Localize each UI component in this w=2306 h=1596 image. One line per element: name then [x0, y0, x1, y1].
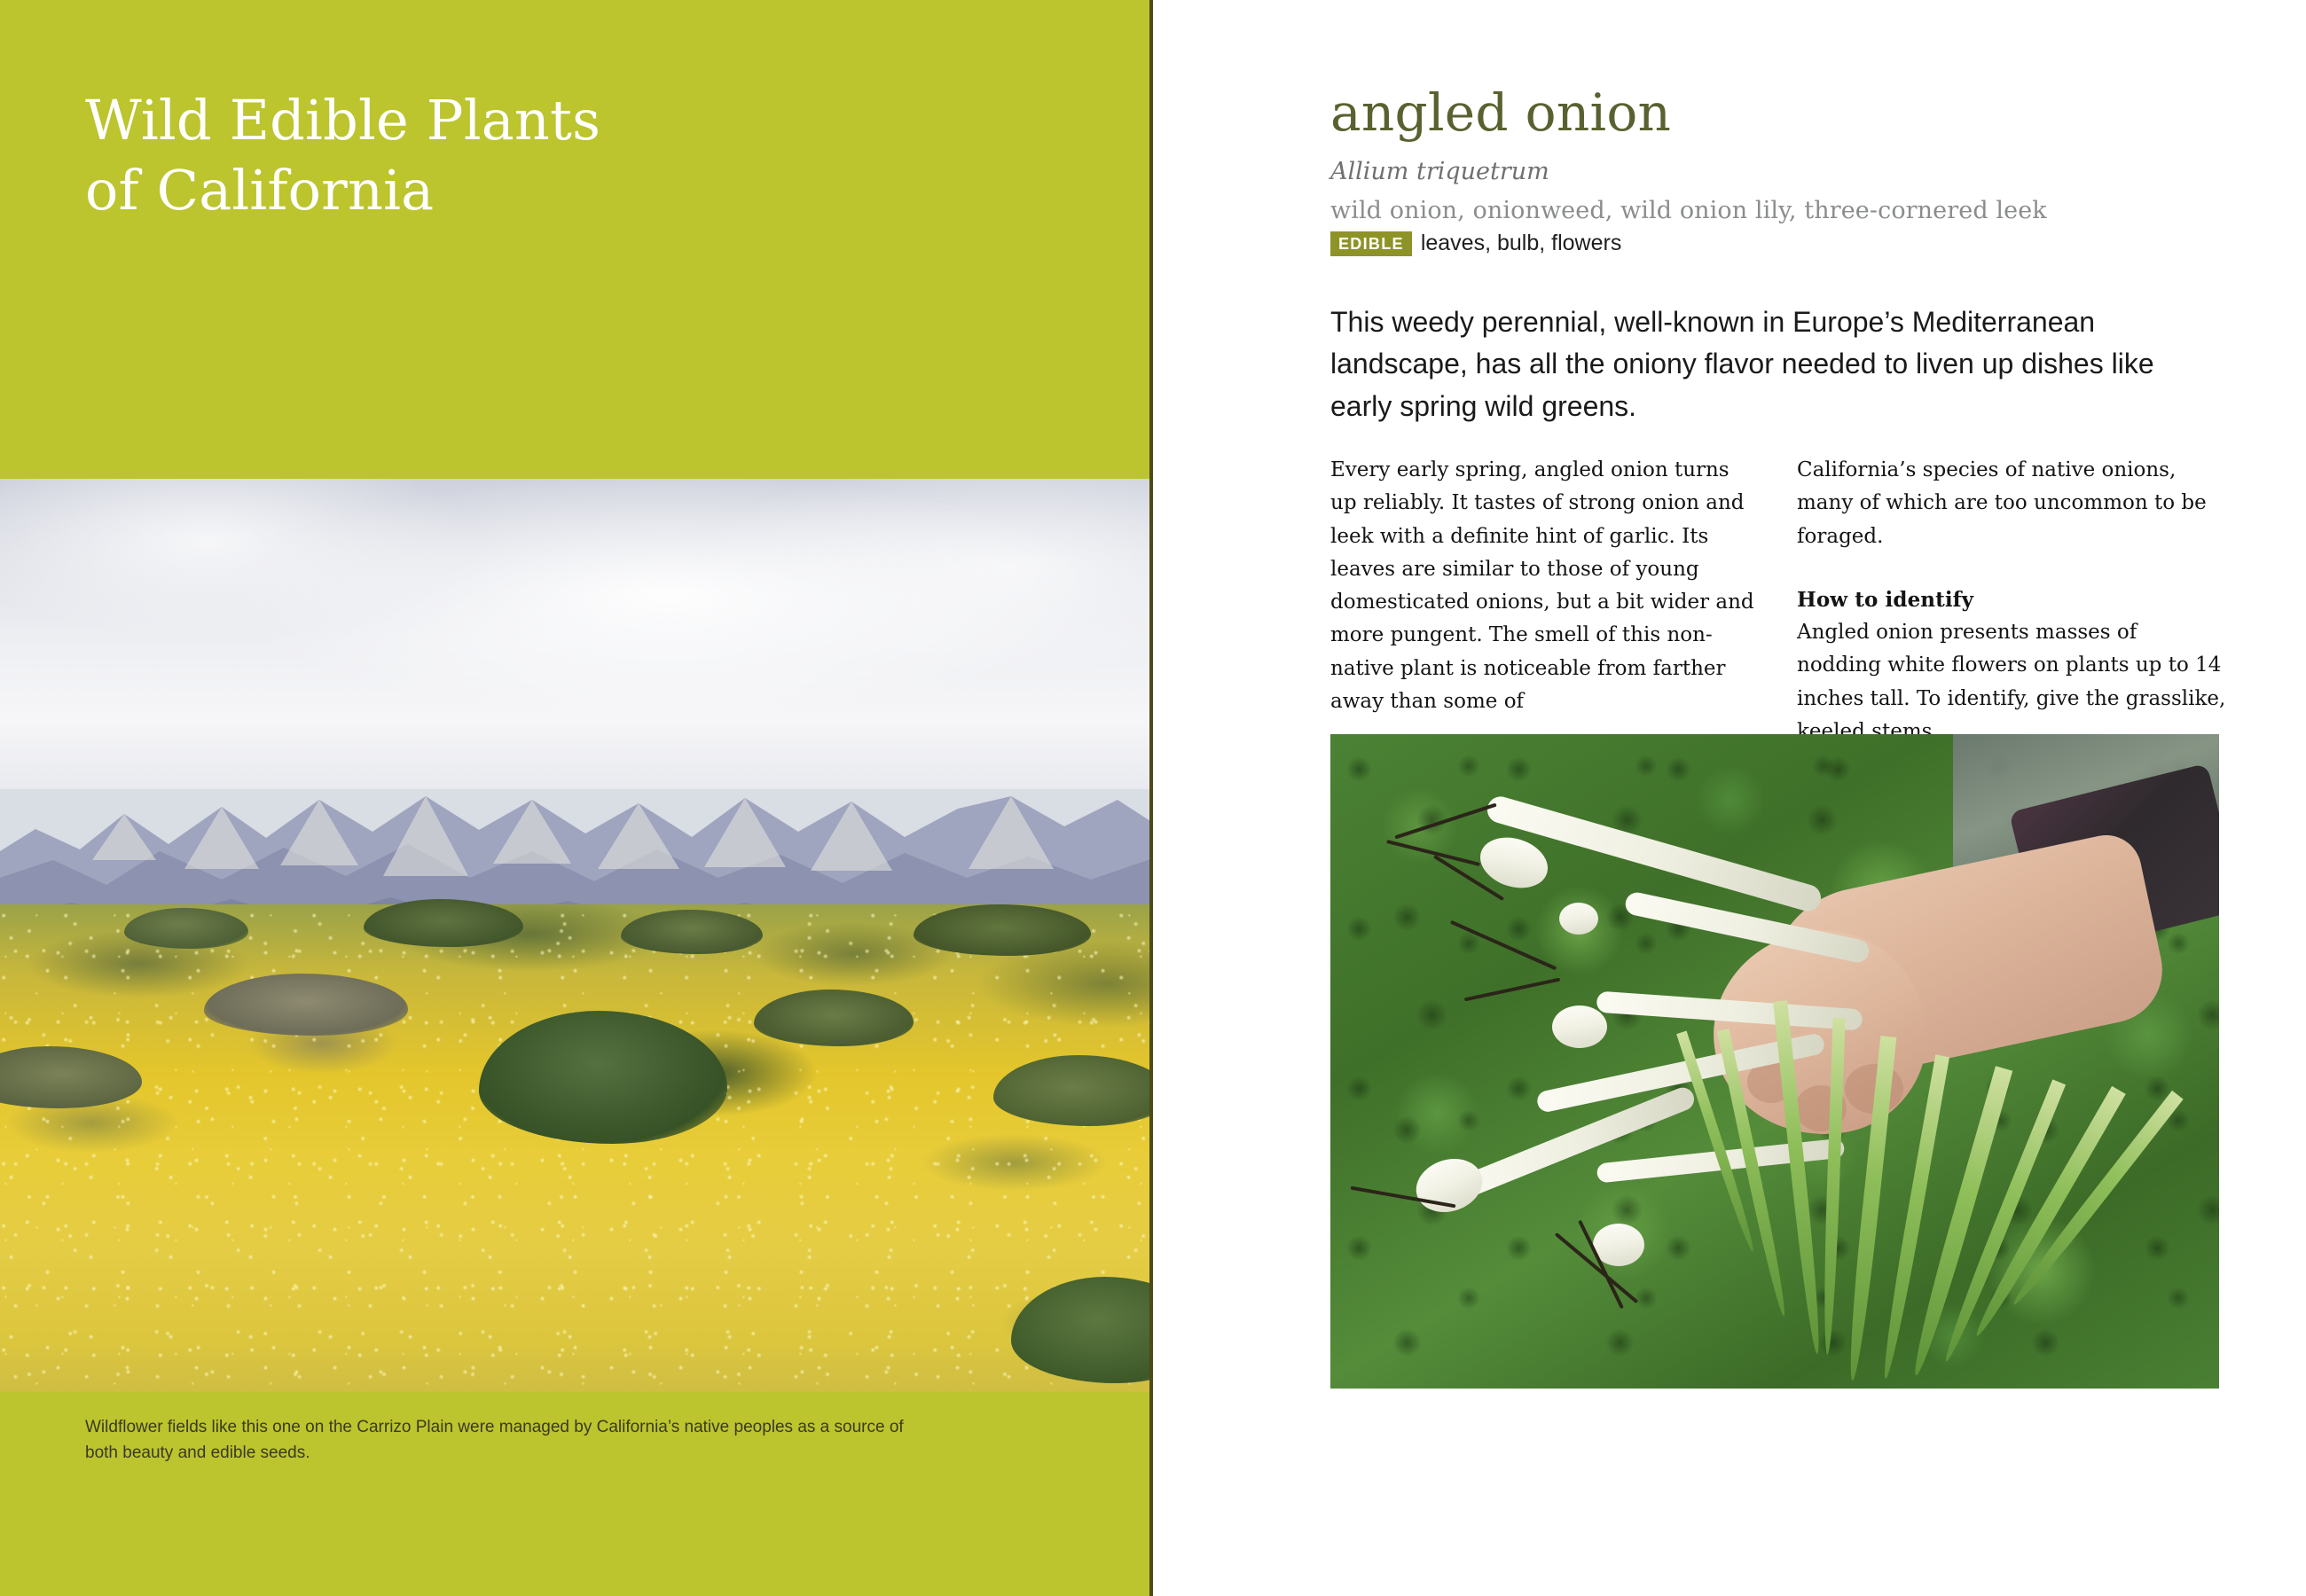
- latin-name: Allium triquetrum: [1330, 158, 1549, 185]
- wildflower-landscape-photo: [0, 479, 1153, 1392]
- book-title-line-2: of California: [85, 155, 1016, 225]
- edible-info-row: EDIBLE leaves, bulb, flowers: [1330, 231, 1621, 256]
- common-names: wild onion, onionweed, wild onion lily, …: [1330, 197, 2047, 224]
- body-columns: Every early spring, angled onion turns u…: [1330, 454, 2226, 748]
- book-title: Wild Edible Plants of California: [85, 85, 1016, 226]
- body-column-left: Every early spring, angled onion turns u…: [1330, 454, 1760, 748]
- onion-bulb: [1552, 1005, 1607, 1048]
- onion-bulb: [1559, 903, 1598, 935]
- body-paragraph: Angled onion presents masses of nodding …: [1797, 616, 2226, 748]
- book-page-spread: Wild Edible Plants of California: [0, 0, 2306, 1596]
- column-spacer: [1797, 553, 2226, 583]
- left-page: Wild Edible Plants of California: [0, 0, 1153, 1596]
- body-column-right: California’s species of native onions, m…: [1797, 454, 2226, 748]
- book-title-line-1: Wild Edible Plants: [85, 85, 1016, 155]
- angled-onion-photo: [1330, 734, 2219, 1389]
- body-paragraph: California’s species of native onions, m…: [1797, 454, 2226, 553]
- status-badge: EDIBLE: [1330, 231, 1412, 256]
- flower-speckle-texture: [0, 904, 1153, 1392]
- wildflower-field-region: [0, 904, 1153, 1392]
- page-title: angled onion: [1330, 87, 1671, 138]
- body-paragraph: Every early spring, angled onion turns u…: [1330, 454, 1760, 718]
- sky-region: [0, 479, 1153, 789]
- intro-paragraph: This weedy perennial, well-known in Euro…: [1330, 301, 2208, 427]
- left-photo-caption: Wildflower fields like this one on the C…: [85, 1414, 919, 1467]
- edible-parts-label: leaves, bulb, flowers: [1421, 231, 1622, 256]
- section-subheading: How to identify: [1797, 583, 2226, 616]
